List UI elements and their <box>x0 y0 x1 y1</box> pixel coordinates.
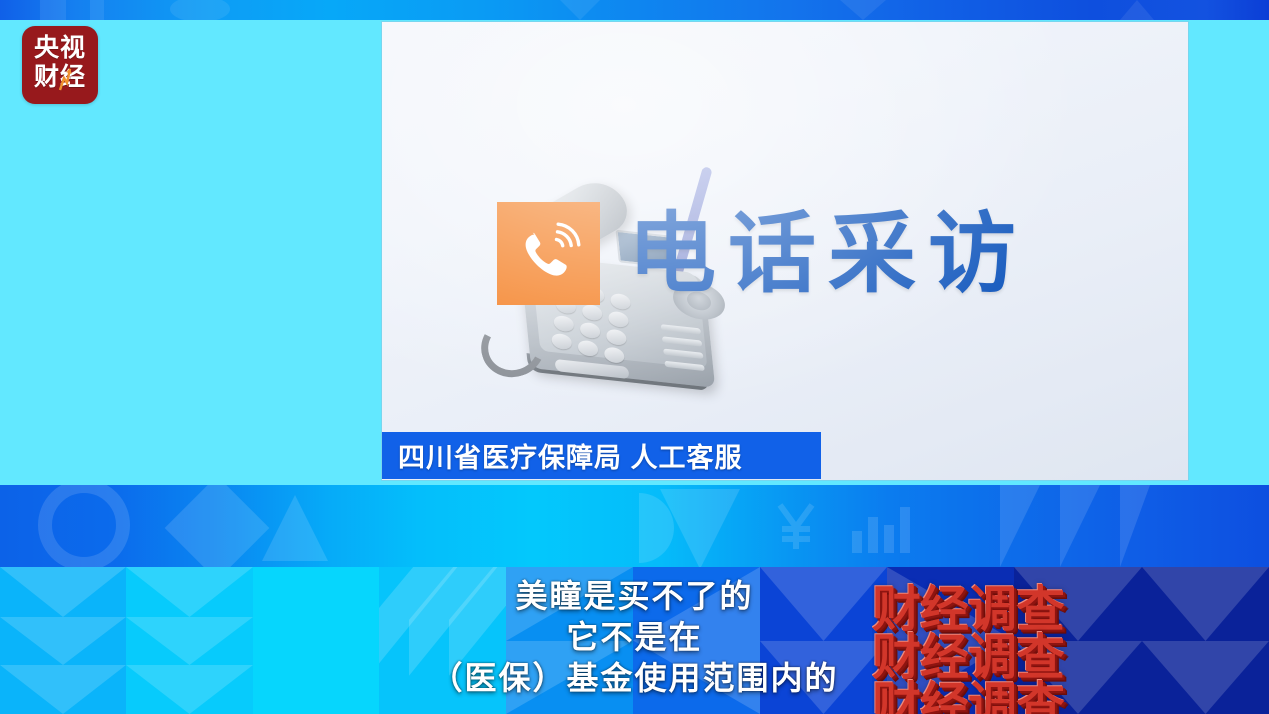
diamond-motif <box>165 485 270 567</box>
yuan-symbol-motif <box>770 499 822 551</box>
broadcast-frame: 央视 财经 <box>0 0 1269 714</box>
pie-chart-motif <box>604 493 674 563</box>
strip-motif <box>170 0 230 20</box>
pattern-column <box>126 567 253 714</box>
pattern-column <box>760 567 887 714</box>
pattern-column <box>506 567 633 714</box>
phone-side-keys <box>661 324 712 378</box>
strip-motif <box>90 0 104 20</box>
pattern-column <box>253 567 379 714</box>
slash-motif <box>1000 485 1150 567</box>
strip-motif <box>40 0 66 20</box>
strip-motif <box>560 0 600 20</box>
strip-motif <box>840 0 886 20</box>
mid-decorative-band <box>0 485 1269 567</box>
triangle-motif <box>262 495 328 561</box>
panel-title-row: 电话采访 <box>497 202 1028 305</box>
program-watermark: 财经调查 财经调查 财经调查 <box>872 566 1162 714</box>
content-panel: 电话采访 四川省医疗保障局 人工客服 <box>382 22 1188 480</box>
cctv-finance-logo: 央视 财经 <box>22 26 98 104</box>
circle-motif <box>38 485 130 567</box>
phone-call-icon <box>497 202 600 305</box>
logo-line-1: 央视 <box>22 35 98 62</box>
top-decorative-strip <box>0 0 1269 20</box>
bar-chart-motif <box>852 503 912 553</box>
panel-title: 电话采访 <box>628 210 1028 298</box>
pattern-column <box>379 567 506 714</box>
strip-motif <box>1120 0 1154 20</box>
source-bar-label: 四川省医疗保障局 人工客服 <box>382 436 743 475</box>
source-bar: 四川省医疗保障局 人工客服 <box>382 432 821 479</box>
logo-line-2: 财经 <box>22 64 98 91</box>
pattern-column <box>633 567 760 714</box>
pattern-column <box>0 567 126 714</box>
watermark-row: 财经调查 <box>872 666 1162 714</box>
